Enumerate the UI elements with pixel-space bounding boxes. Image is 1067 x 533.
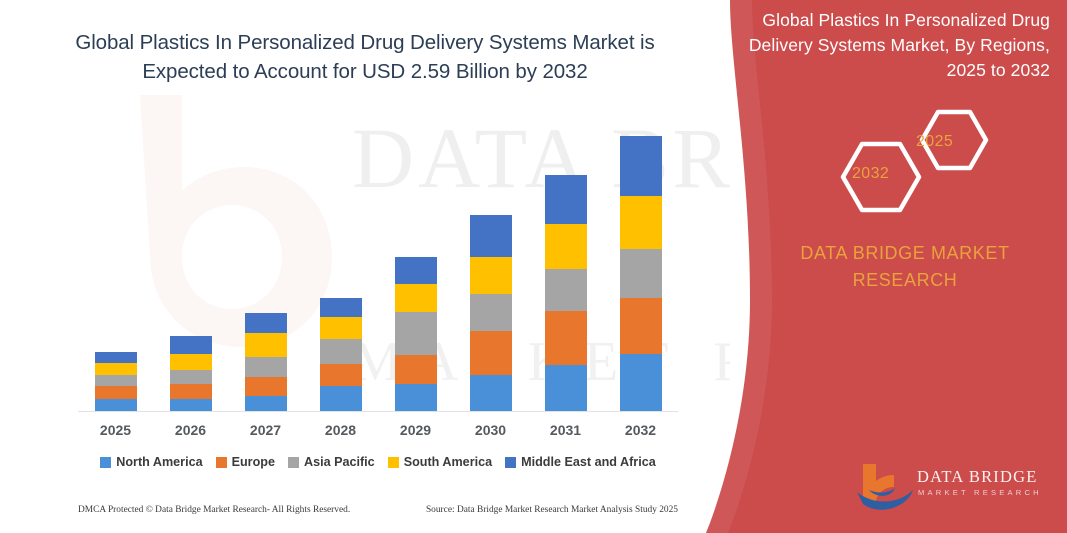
bar-segment[interactable]	[545, 269, 587, 311]
bar-segment[interactable]	[170, 370, 212, 384]
bar-segment[interactable]	[395, 312, 437, 354]
brand-logo-subtext: MARKET RESEARCH	[918, 488, 1042, 497]
legend-swatch-icon	[216, 457, 227, 468]
bar-segment[interactable]	[620, 196, 662, 249]
bar-segment[interactable]	[470, 257, 512, 294]
legend-swatch-icon	[100, 457, 111, 468]
brand-name: DATA BRIDGE MARKET RESEARCH	[770, 240, 1040, 294]
chart-title: Global Plastics In Personalized Drug Del…	[60, 28, 670, 86]
legend-label: Middle East and Africa	[521, 455, 656, 469]
right-panel-title: Global Plastics In Personalized Drug Del…	[740, 8, 1050, 83]
x-tick-2029: 2029	[381, 422, 451, 438]
legend-item[interactable]: North America	[100, 455, 202, 469]
bar-column-2030[interactable]	[470, 215, 512, 412]
bar-segment[interactable]	[320, 317, 362, 338]
legend-swatch-icon	[288, 457, 299, 468]
brand-logo: DATA BRIDGE MARKET RESEARCH	[855, 462, 1055, 514]
legend-label: North America	[116, 455, 202, 469]
legend-label: Europe	[232, 455, 275, 469]
legend-label: Asia Pacific	[304, 455, 375, 469]
x-tick-2027: 2027	[231, 422, 301, 438]
x-tick-2026: 2026	[156, 422, 226, 438]
brand-logo-icon	[855, 462, 915, 510]
legend-item[interactable]: South America	[388, 455, 492, 469]
bar-column-2031[interactable]	[545, 175, 587, 412]
bar-segment[interactable]	[170, 336, 212, 354]
footer-copyright: DMCA Protected © Data Bridge Market Rese…	[78, 505, 350, 515]
footer: DMCA Protected © Data Bridge Market Rese…	[78, 505, 678, 515]
bar-segment[interactable]	[470, 331, 512, 374]
bar-segment[interactable]	[245, 357, 287, 377]
legend-item[interactable]: Asia Pacific	[288, 455, 375, 469]
bar-segment[interactable]	[245, 313, 287, 333]
bar-segment[interactable]	[245, 396, 287, 412]
legend-item[interactable]: Middle East and Africa	[505, 455, 656, 469]
bar-segment[interactable]	[320, 298, 362, 317]
bar-segment[interactable]	[620, 249, 662, 298]
legend-swatch-icon	[388, 457, 399, 468]
bar-segment[interactable]	[95, 352, 137, 363]
bar-segment[interactable]	[95, 386, 137, 399]
bar-segment[interactable]	[170, 384, 212, 399]
bar-segment[interactable]	[545, 311, 587, 364]
bar-segment[interactable]	[395, 384, 437, 412]
x-axis-tick-labels: 20252026202720282029203020312032	[78, 422, 678, 444]
bar-segment[interactable]	[95, 363, 137, 375]
x-tick-2031: 2031	[531, 422, 601, 438]
legend-swatch-icon	[505, 457, 516, 468]
bar-segment[interactable]	[470, 375, 512, 412]
hexagon-icons	[820, 108, 1000, 218]
bar-segment[interactable]	[95, 375, 137, 386]
bar-segment[interactable]	[245, 377, 287, 396]
hexagon-2032-label: 2032	[852, 165, 889, 183]
hexagon-2025-label: 2025	[916, 133, 953, 151]
bar-column-2026[interactable]	[170, 336, 212, 412]
bar-segment[interactable]	[470, 294, 512, 331]
bar-segment[interactable]	[395, 284, 437, 312]
bar-segment[interactable]	[545, 224, 587, 269]
hexagon-group: 2025 2032	[820, 108, 1000, 218]
bar-segment[interactable]	[320, 386, 362, 412]
infographic-root: DATA BRIDGE MARKET RESEARCH Global Plast…	[0, 0, 1067, 533]
bar-column-2027[interactable]	[245, 313, 287, 412]
chart-plot-area	[78, 120, 678, 412]
bar-segment[interactable]	[545, 365, 587, 412]
bar-segment[interactable]	[320, 339, 362, 364]
footer-source: Source: Data Bridge Market Research Mark…	[426, 505, 678, 515]
bar-segment[interactable]	[545, 175, 587, 223]
bar-segment[interactable]	[395, 257, 437, 284]
bar-segment[interactable]	[320, 364, 362, 386]
bar-column-2032[interactable]	[620, 136, 662, 412]
legend-item[interactable]: Europe	[216, 455, 275, 469]
bar-segment[interactable]	[395, 355, 437, 384]
bar-column-2025[interactable]	[95, 352, 137, 412]
x-tick-2030: 2030	[456, 422, 526, 438]
bar-column-2028[interactable]	[320, 298, 362, 412]
bar-segment[interactable]	[620, 354, 662, 412]
legend-label: South America	[404, 455, 492, 469]
bar-segment[interactable]	[245, 333, 287, 356]
chart-legend: North AmericaEuropeAsia PacificSouth Ame…	[78, 455, 678, 469]
x-tick-2025: 2025	[81, 422, 151, 438]
bar-segment[interactable]	[170, 354, 212, 370]
bar-segment[interactable]	[470, 215, 512, 257]
x-axis-line	[78, 411, 678, 412]
bar-segment[interactable]	[620, 298, 662, 353]
x-tick-2032: 2032	[606, 422, 676, 438]
x-tick-2028: 2028	[306, 422, 376, 438]
bar-column-2029[interactable]	[395, 257, 437, 412]
bar-segment[interactable]	[620, 136, 662, 195]
brand-logo-text: DATA BRIDGE	[917, 467, 1038, 487]
